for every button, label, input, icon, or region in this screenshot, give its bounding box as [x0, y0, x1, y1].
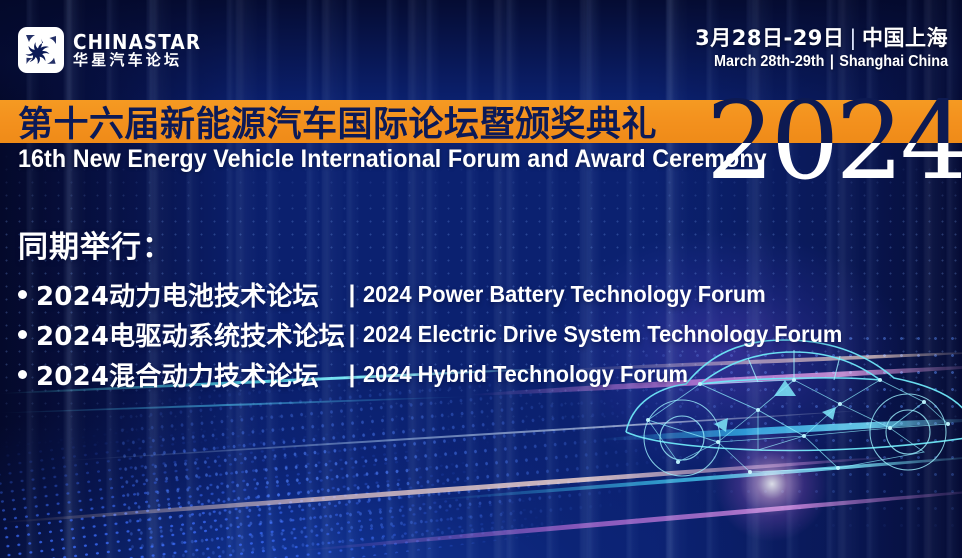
meta-separator-cn: |: [844, 26, 862, 50]
brand-name-en: CHINASTAR: [73, 32, 201, 52]
forum-name-en: 2024 Electric Drive System Technology Fo…: [363, 321, 842, 348]
forum-name-cn: 2024电驱动系统技术论坛: [36, 316, 341, 353]
concurrent-forums-list: 2024动力电池技术论坛 | 2024 Power Battery Techno…: [18, 276, 867, 393]
event-date-en: March 28th-29th: [714, 53, 824, 70]
forum-name-cn: 2024动力电池技术论坛: [36, 276, 341, 313]
list-item: 2024动力电池技术论坛 | 2024 Power Battery Techno…: [18, 276, 867, 313]
brand-name-cn: 华星汽车论坛: [73, 53, 212, 68]
brand-wordmark: CHINASTAR 华星汽车论坛: [73, 32, 212, 68]
star-emblem-icon: [18, 27, 64, 73]
headlight-flare: [712, 424, 832, 544]
event-meta-en: March 28th-29th|Shanghai China: [714, 53, 948, 71]
event-title-en: 16th New Energy Vehicle International Fo…: [18, 145, 767, 174]
event-meta-cn: 3月28日-29日|中国上海: [688, 27, 948, 50]
list-item: 2024电驱动系统技术论坛 | 2024 Electric Drive Syst…: [18, 316, 867, 353]
event-meta: 3月28日-29日|中国上海 March 28th-29th|Shanghai …: [688, 27, 948, 73]
event-date-cn: 3月28日-29日: [695, 26, 844, 50]
forum-name-en: 2024 Power Battery Technology Forum: [363, 281, 766, 308]
list-item: 2024混合动力技术论坛 | 2024 Hybrid Technology Fo…: [18, 356, 867, 393]
event-title-cn: 第十六届新能源汽车国际论坛暨颁奖典礼: [18, 99, 657, 144]
bullet-icon: [18, 370, 27, 379]
forum-name-en: 2024 Hybrid Technology Forum: [363, 361, 688, 388]
brand-logo: CHINASTAR 华星汽车论坛: [18, 27, 212, 73]
event-poster: CHINASTAR 华星汽车论坛 3月28日-29日|中国上海 March 28…: [0, 0, 962, 558]
concurrent-forums-heading: 同期举行：: [18, 222, 867, 266]
meta-separator-en: |: [824, 53, 839, 70]
bullet-icon: [18, 290, 27, 299]
forum-divider: |: [341, 281, 363, 309]
poster-header: CHINASTAR 华星汽车论坛 3月28日-29日|中国上海 March 28…: [0, 0, 962, 100]
event-location-en: Shanghai China: [839, 53, 948, 70]
forum-divider: |: [341, 321, 363, 349]
concurrent-forums-section: 同期举行： 2024动力电池技术论坛 | 2024 Power Battery …: [18, 222, 867, 393]
bullet-icon: [18, 330, 27, 339]
event-location-cn: 中国上海: [862, 26, 948, 50]
forum-divider: |: [341, 361, 363, 389]
forum-name-cn: 2024混合动力技术论坛: [36, 356, 341, 393]
